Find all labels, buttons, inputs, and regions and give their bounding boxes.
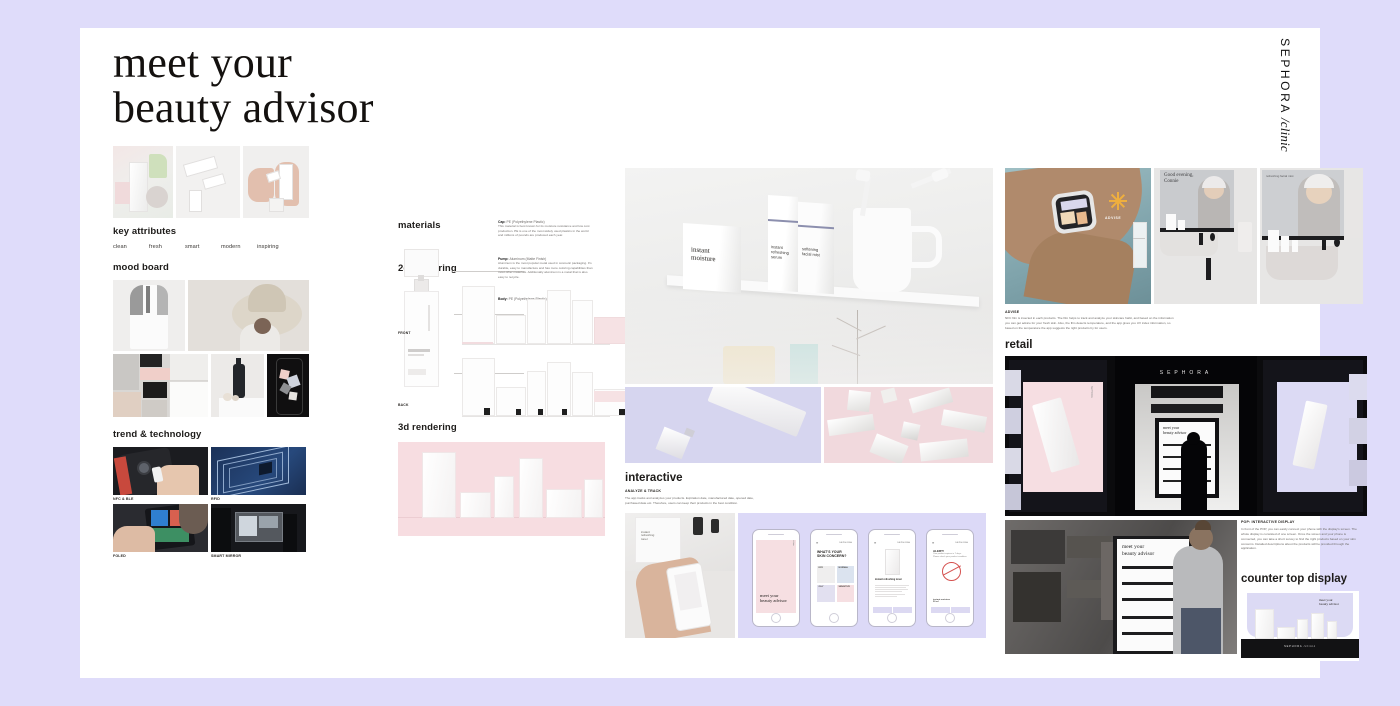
hero-product-label-3: softening facial mist xyxy=(802,247,828,258)
skin-concern-line2: SKIN CONCERN? xyxy=(817,554,853,558)
counter-top-heading: counter top display xyxy=(1241,573,1367,585)
pop-display-row: meet your beauty advisor POP: INTERACTIV… xyxy=(1005,520,1367,661)
phone-speaker xyxy=(768,534,784,536)
interactive-body: The app tracks and analyzes your product… xyxy=(625,496,761,506)
phone-mockup-product-detail[interactable]: ☰ SEPHORA instant refreshing toner xyxy=(868,529,916,627)
pop-screen-line2: beauty advisor xyxy=(1122,551,1154,557)
menu-icon[interactable]: ☰ xyxy=(932,542,934,545)
retail-heading: retail xyxy=(1005,339,1367,351)
attribute-clean: clean xyxy=(113,244,149,250)
trend-item-smart-mirror: SMART MIRROR xyxy=(211,504,306,558)
skin-concern-question: WHAT'S YOUR SKIN CONCERN? xyxy=(817,550,853,559)
render-3d-scene xyxy=(398,442,605,536)
option-oily[interactable]: OILY xyxy=(817,585,835,602)
mood-image-materials xyxy=(113,354,208,417)
option-normal-label: NORMAL xyxy=(839,567,849,569)
option-dry-label: DRY xyxy=(819,567,824,569)
mood-image-hat xyxy=(188,280,309,351)
option-oily-label: OILY xyxy=(819,586,824,588)
render-3d-heading: 3d rendering xyxy=(398,422,613,433)
screen-brand: SEPHORA xyxy=(955,542,968,544)
photo-app-in-hand: instantrefreshingtoner xyxy=(625,513,735,638)
counter-base-brand: SEPHORA /clinic xyxy=(1241,645,1359,648)
brand-sub: /clinic xyxy=(1277,118,1293,152)
product-photo-3 xyxy=(243,146,309,218)
advise-image-row: ADVISE Good evening, Connie xyxy=(1005,168,1367,304)
product-description xyxy=(875,585,909,599)
photo-smart-mirror-2: refreshing facial mist xyxy=(1260,168,1363,304)
render-2d-label-front: FRONT xyxy=(398,331,411,335)
mirror-greeting-line1: Good evening, xyxy=(1164,173,1193,178)
key-attributes-list: clean fresh smart modern inspiring xyxy=(113,244,309,250)
brand-name: SEPHORA xyxy=(1278,38,1292,115)
mood-image-vase xyxy=(211,354,264,417)
phone-home-button[interactable] xyxy=(887,613,897,623)
render-pink-scatter xyxy=(824,387,993,463)
screen-brand: SEPHORA xyxy=(897,542,910,544)
screen-brand: SEPHORA xyxy=(839,542,852,544)
pop-body: In front of the POP, you can easily conn… xyxy=(1241,527,1361,551)
alert-body: Your product expires in 7 days. Please c… xyxy=(933,553,967,559)
interactive-section: interactive ANALYZE & TRACK The app trac… xyxy=(625,472,993,506)
mirror-greeting-line2: Connie xyxy=(1164,179,1178,184)
key-attributes-images xyxy=(113,146,309,218)
photo-pop-interactive-display: meet your beauty advisor xyxy=(1005,520,1237,654)
phone-mockup-splash[interactable]: SEPHORA /clinic meet your beauty advisor xyxy=(752,529,800,627)
app-screen-mockups: SEPHORA /clinic meet your beauty advisor… xyxy=(738,513,986,638)
phone-speaker xyxy=(826,534,842,536)
mood-image-phonecase xyxy=(267,354,309,417)
trend-caption-smart-mirror: SMART MIRROR xyxy=(211,554,306,558)
mood-board-heading: mood board xyxy=(113,262,309,273)
material-cap: Cap: PE (Polyethylene Plastic) This mate… xyxy=(498,220,594,238)
render-2d-row-back xyxy=(462,356,610,417)
phone-speaker xyxy=(942,534,958,536)
skin-concern-options: DRY NORMAL OILY SENSITIVE xyxy=(817,566,854,602)
column-research: key attributes clean fresh smart modern … xyxy=(113,146,309,558)
counter-screen-line2: beauty advisor xyxy=(1319,602,1339,606)
trend-item-nfc: NFC & BLE xyxy=(113,447,208,501)
material-pump: Pump: Aluminum (Matte Finish) Aluminum i… xyxy=(498,257,594,280)
pop-text-column: POP: INTERACTIVE DISPLAY In front of the… xyxy=(1241,520,1367,661)
retail-sign: SEPHORA xyxy=(1135,370,1237,376)
menu-icon[interactable]: ☰ xyxy=(874,542,876,545)
trend-caption-foled: FOLED xyxy=(113,554,208,558)
attribute-inspiring: inspiring xyxy=(257,244,293,250)
phone-home-button[interactable] xyxy=(829,613,839,623)
menu-icon[interactable]: ☰ xyxy=(816,542,818,545)
advise-caption-block: ADVISE NFC film is inserted in each prod… xyxy=(1005,310,1175,330)
trend-caption-nfc: NFC & BLE xyxy=(113,497,208,501)
option-dry[interactable]: DRY xyxy=(817,566,835,583)
photo-counter-top-display: meet your beauty advisor SEPHORA /clinic xyxy=(1241,591,1359,661)
trend-item-foled: FOLED xyxy=(113,504,208,558)
option-normal[interactable]: NORMAL xyxy=(837,566,854,583)
hero-bathroom-shelf: instant moisture instant refreshing seru… xyxy=(625,168,993,384)
column-right: ADVISE Good evening, Connie xyxy=(1005,168,1367,661)
watch-advise-label: ADVISE xyxy=(1105,216,1121,220)
phone-speaker xyxy=(884,534,900,536)
interactive-bottom-row: instantrefreshingtoner SEPHORA /clinic m… xyxy=(625,513,993,638)
option-sensitive-label: SENSITIVE xyxy=(839,586,850,588)
advise-body: NFC film is inserted in each products. T… xyxy=(1005,316,1175,330)
trend-caption-rfid: RFID xyxy=(211,497,306,501)
attribute-fresh: fresh xyxy=(149,244,185,250)
page-title-line1: meet your xyxy=(113,41,374,86)
attribute-modern: modern xyxy=(221,244,257,250)
render-lavender-scene xyxy=(625,387,821,463)
interactive-heading: interactive xyxy=(625,472,993,484)
portfolio-board: meet your beauty advisor SEPHORA /clinic xyxy=(80,28,1320,678)
alert-expiry-icon xyxy=(942,562,961,581)
product-photo-2 xyxy=(176,146,239,218)
interactive-subheading: ANALYZE & TRACK xyxy=(625,489,993,493)
hero-product-label-2: instant refreshing serum xyxy=(771,245,795,261)
column-materials-renderings: materials Cap: PE (Polyethyle xyxy=(398,220,613,536)
trend-technology-grid: NFC & BLE RFID xyxy=(113,447,309,558)
page-title: meet your beauty advisor xyxy=(113,41,374,131)
alert-product-size: 50 ml xyxy=(933,601,967,603)
attribute-smart: smart xyxy=(185,244,221,250)
material-pump-body: Aluminum is the most popular metal used … xyxy=(498,261,594,280)
phone-home-button[interactable] xyxy=(771,613,781,623)
retail-shopper-silhouette xyxy=(1181,440,1207,512)
phone-home-button[interactable] xyxy=(945,613,955,623)
key-attributes-heading: key attributes xyxy=(113,226,309,237)
trend-item-rfid: RFID xyxy=(211,447,306,501)
render-2d-board: FRONT BACK xyxy=(398,284,613,414)
splash-title: meet your beauty advisor xyxy=(760,593,787,604)
photo-retail-storefront: SEPHORA SEPHORA meet your beauty advisor xyxy=(1005,356,1367,516)
render-2d-row-front xyxy=(462,284,610,345)
photo-smart-mirror-1: Good evening, Connie xyxy=(1154,168,1257,304)
product-name: instant refreshing toner xyxy=(875,578,909,581)
pop-screen-line1: meet your xyxy=(1122,544,1144,550)
pop-caption: POP: INTERACTIVE DISPLAY xyxy=(1241,520,1367,524)
mood-board-grid xyxy=(113,280,309,417)
phone-mockup-skin-concern[interactable]: ☰ SEPHORA WHAT'S YOUR SKIN CONCERN? DRY … xyxy=(810,529,858,627)
phone-mockup-alert[interactable]: ☰ SEPHORA ALERT! Your product expires in… xyxy=(926,529,974,627)
mood-image-garment xyxy=(113,280,185,351)
splash-title-line2: beauty advisor xyxy=(760,598,787,603)
material-cap-body: This material is best known for its mois… xyxy=(498,224,594,238)
column-center: instant moisture instant refreshing seru… xyxy=(625,168,993,638)
advise-caption: ADVISE xyxy=(1005,310,1175,314)
retail-screen-line2: beauty advisor xyxy=(1163,430,1186,435)
render-duo-row xyxy=(625,387,993,463)
product-photo-1 xyxy=(113,146,173,218)
trend-technology-heading: trend & technology xyxy=(113,429,309,440)
product-image xyxy=(885,549,900,575)
photo-smartwatch: ADVISE xyxy=(1005,168,1151,304)
splash-brand: SEPHORA /clinic xyxy=(792,540,794,546)
page-title-line2: beauty advisor xyxy=(113,86,374,131)
hero-product-label-1: instant moisture xyxy=(691,247,733,266)
brand-logo: SEPHORA /clinic xyxy=(1268,40,1302,150)
alert-product: instant moisture 50 ml xyxy=(933,599,967,603)
option-sensitive[interactable]: SENSITIVE xyxy=(837,585,854,602)
render-2d-label-back: BACK xyxy=(398,403,409,407)
